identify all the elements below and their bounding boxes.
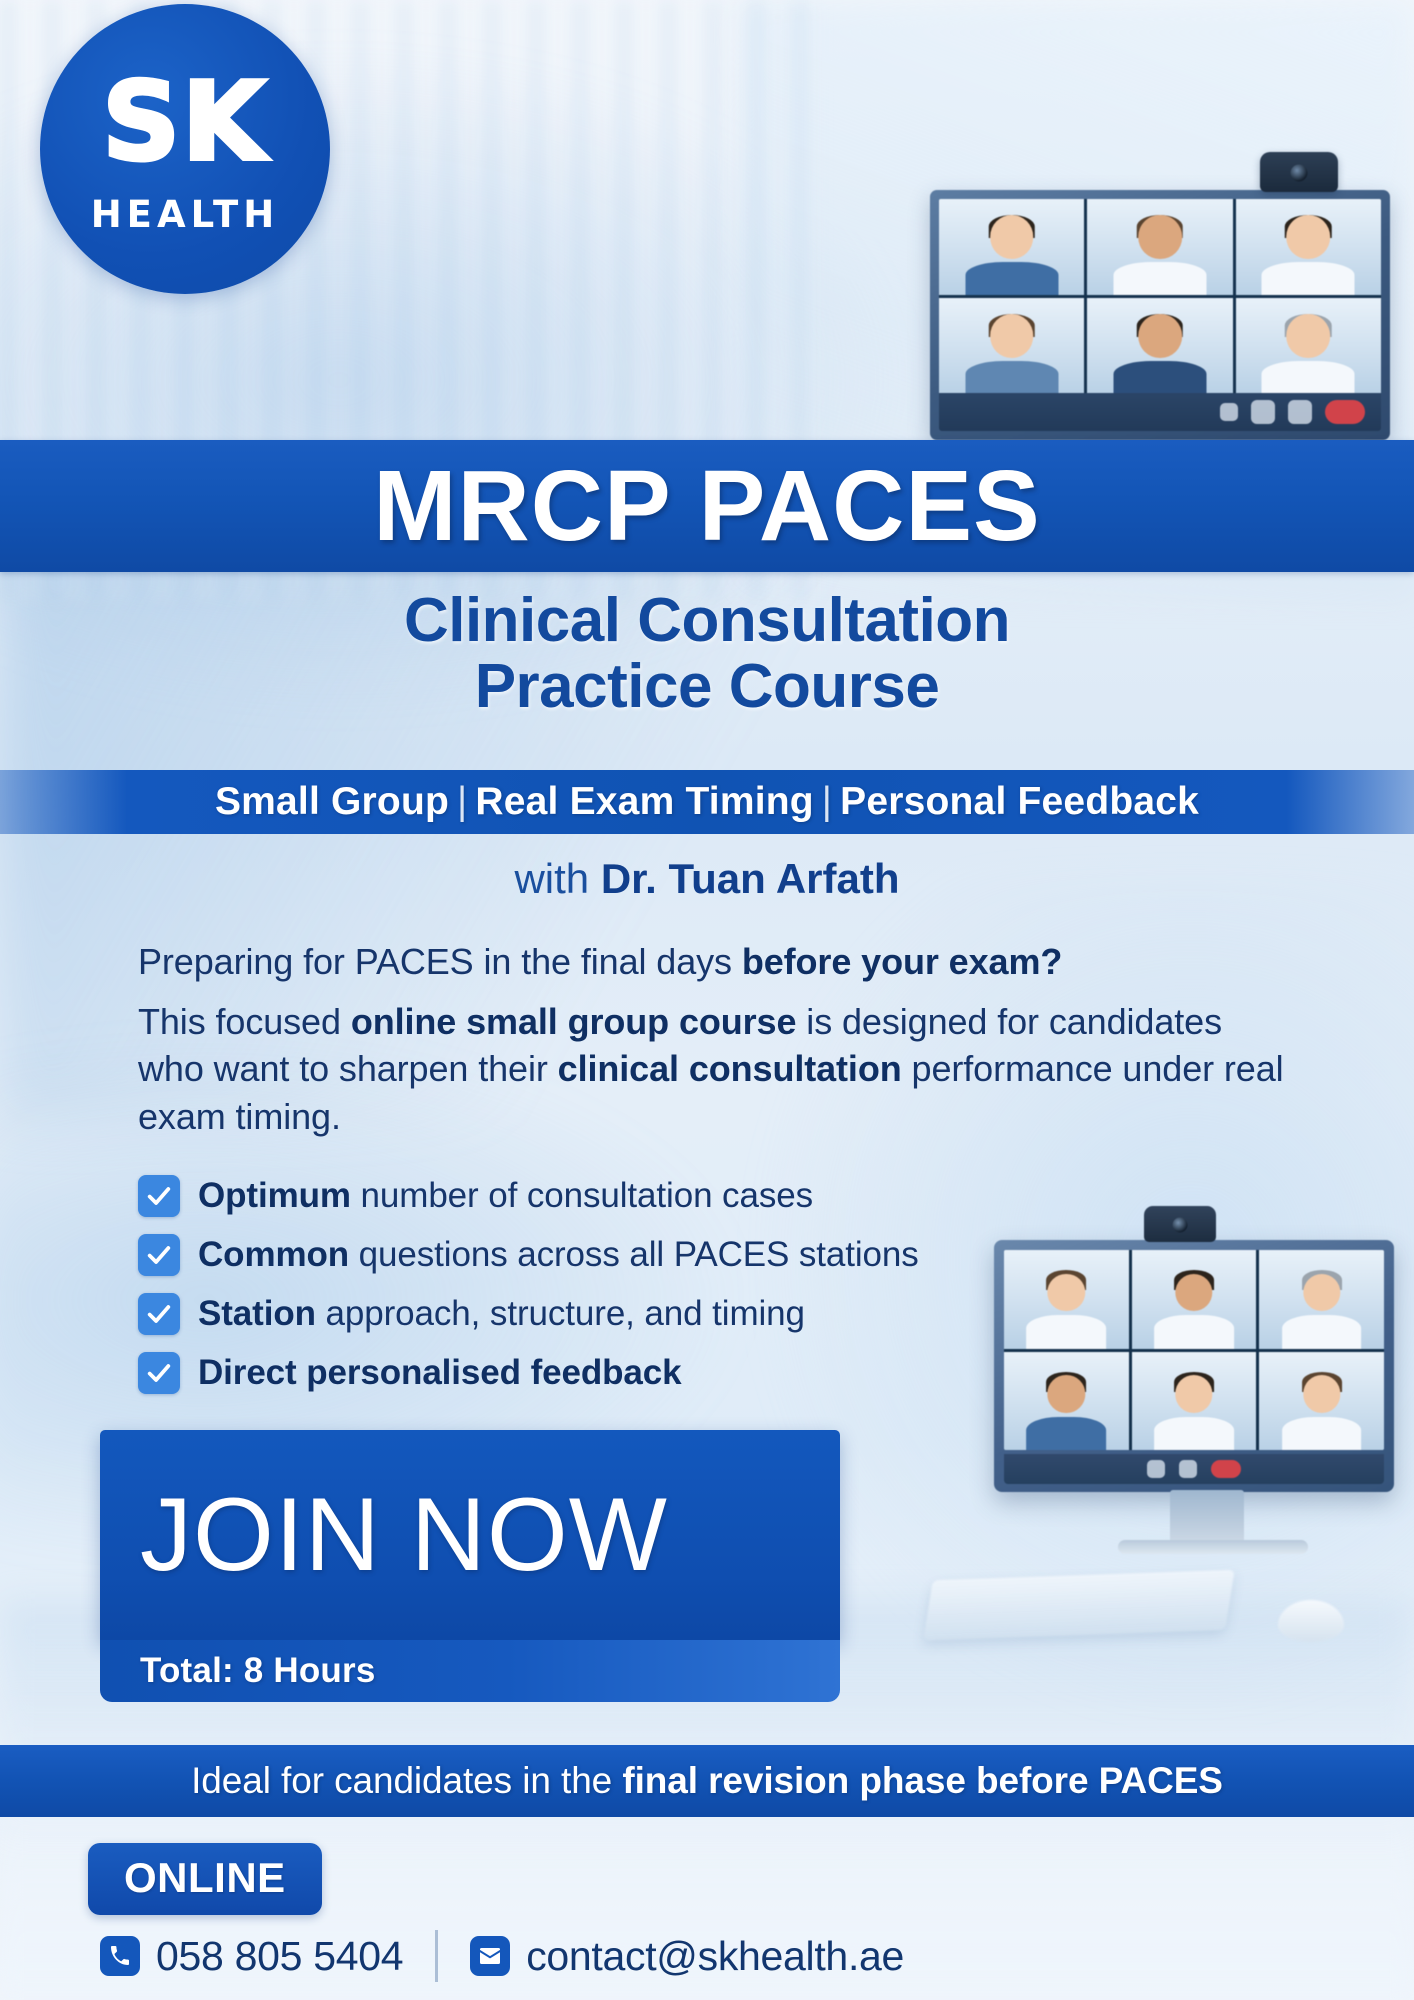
- checklist-text: Optimum number of consultation cases: [198, 1176, 813, 1216]
- online-badge-label: ONLINE: [124, 1854, 286, 1901]
- participant-tile: [1087, 298, 1232, 394]
- participant-tile: [939, 298, 1084, 394]
- feature-item-2: Real Exam Timing: [475, 780, 813, 824]
- video-grid-top: [939, 199, 1381, 394]
- feature-item-3: Personal Feedback: [840, 780, 1199, 824]
- contact-divider: [435, 1930, 438, 1982]
- checklist-rest-0: number of consultation cases: [351, 1176, 813, 1215]
- mouse-illustration-lower: [1278, 1600, 1344, 1642]
- mic-icon-lower: [1147, 1460, 1165, 1478]
- poster-canvas: SK HEALTH MRCP PACES Clinical Consultati…: [0, 0, 1414, 2000]
- presenter-line: with Dr. Tuan Arfath: [0, 855, 1414, 903]
- subtitle-line-1: Clinical Consultation: [0, 588, 1414, 654]
- check-icon: [138, 1175, 180, 1217]
- body-paragraph-1: Preparing for PACES in the final days be…: [138, 938, 1288, 986]
- presenter-prefix: with: [514, 855, 600, 902]
- ideal-pre: Ideal for candidates in the: [191, 1760, 622, 1801]
- join-now-button[interactable]: JOIN NOW: [100, 1430, 840, 1640]
- online-badge: ONLINE: [88, 1843, 322, 1915]
- checklist-text: Station approach, structure, and timing: [198, 1294, 805, 1334]
- share-icon: [1288, 400, 1312, 424]
- checklist-bold-0: Optimum: [198, 1176, 351, 1215]
- participant-tile: [1087, 199, 1232, 295]
- video-icon: [1251, 400, 1275, 424]
- checklist-item: Station approach, structure, and timing: [138, 1293, 1238, 1335]
- checklist-text: Common questions across all PACES statio…: [198, 1235, 919, 1275]
- mic-icon: [1220, 403, 1238, 421]
- feature-separator-2: |: [814, 780, 840, 824]
- checklist-rest-2: approach, structure, and timing: [316, 1294, 805, 1333]
- presenter-name: Dr. Tuan Arfath: [601, 855, 900, 902]
- webcam-icon: [1260, 152, 1338, 192]
- checklist-rest-1: questions across all PACES stations: [349, 1235, 919, 1274]
- features-band: Small Group | Real Exam Timing | Persona…: [0, 770, 1414, 834]
- email-contact[interactable]: contact@skhealth.ae: [470, 1933, 904, 1980]
- keyboard-illustration-lower: [923, 1570, 1234, 1640]
- participant-tile: [1236, 298, 1381, 394]
- checklist-bold-2: Station: [198, 1294, 316, 1333]
- body-copy: Preparing for PACES in the final days be…: [138, 938, 1288, 1152]
- logo-mark: SK: [102, 69, 267, 177]
- phone-number: 058 805 5404: [156, 1933, 403, 1980]
- brand-logo: SK HEALTH: [40, 4, 330, 294]
- checklist-item: Common questions across all PACES statio…: [138, 1234, 1238, 1276]
- subtitle-block: Clinical Consultation Practice Course: [0, 588, 1414, 721]
- email-address: contact@skhealth.ae: [526, 1933, 904, 1980]
- checklist-item: Direct personalised feedback: [138, 1352, 1238, 1394]
- total-hours-label: Total: 8 Hours: [100, 1651, 376, 1691]
- phone-contact[interactable]: 058 805 5404: [100, 1933, 403, 1980]
- participant-tile: [939, 199, 1084, 295]
- ideal-bold: final revision phase before PACES: [622, 1760, 1223, 1801]
- body-p1-text: Preparing for PACES in the final days: [138, 941, 742, 982]
- body-paragraph-2: This focused online small group course i…: [138, 998, 1288, 1141]
- feature-item-1: Small Group: [215, 780, 449, 824]
- feature-separator-1: |: [449, 780, 475, 824]
- envelope-icon: [470, 1936, 510, 1976]
- checklist-bold-3: Direct personalised feedback: [198, 1353, 682, 1392]
- total-hours-bar: Total: 8 Hours: [100, 1640, 840, 1702]
- participant-tile: [1236, 199, 1381, 295]
- check-icon: [138, 1352, 180, 1394]
- video-icon-lower: [1179, 1460, 1197, 1478]
- subtitle-line-2: Practice Course: [0, 654, 1414, 720]
- participant-tile: [1259, 1352, 1384, 1451]
- checklist-text: Direct personalised feedback: [198, 1353, 682, 1393]
- end-call-icon-lower: [1211, 1460, 1241, 1478]
- checklist: Optimum number of consultation cases Com…: [138, 1175, 1238, 1411]
- monitor-stand: [1170, 1490, 1244, 1544]
- video-call-monitor-top: [930, 190, 1390, 440]
- monitor-base: [1118, 1540, 1308, 1554]
- logo-subtext: HEALTH: [91, 193, 280, 236]
- contact-bar: 058 805 5404 contact@skhealth.ae: [100, 1930, 904, 1982]
- page-title: MRCP PACES: [373, 456, 1041, 556]
- body-p2-b: online small group course: [351, 1001, 797, 1042]
- body-p2-a: This focused: [138, 1001, 351, 1042]
- participant-tile: [1259, 1250, 1384, 1349]
- title-band: MRCP PACES: [0, 440, 1414, 572]
- end-call-icon: [1325, 400, 1365, 424]
- body-p1-bold: before your exam?: [742, 941, 1062, 982]
- checklist-bold-1: Common: [198, 1235, 349, 1274]
- call-controls-bottom: [1004, 1454, 1384, 1484]
- check-icon: [138, 1293, 180, 1335]
- ideal-text: Ideal for candidates in the final revisi…: [191, 1760, 1223, 1802]
- join-now-label: JOIN NOW: [100, 1476, 668, 1595]
- body-p2-d: clinical consultation: [558, 1048, 902, 1089]
- checklist-item: Optimum number of consultation cases: [138, 1175, 1238, 1217]
- ideal-for-band: Ideal for candidates in the final revisi…: [0, 1745, 1414, 1817]
- check-icon: [138, 1234, 180, 1276]
- phone-icon: [100, 1936, 140, 1976]
- call-controls-top: [939, 393, 1381, 431]
